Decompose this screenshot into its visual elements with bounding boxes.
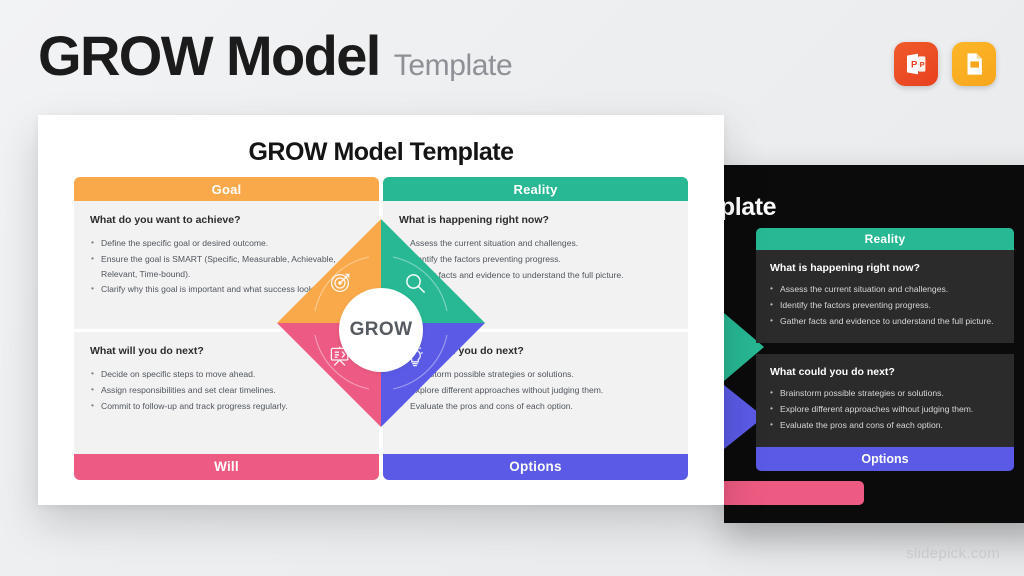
list-item: Assess the current situation and challen… xyxy=(770,283,1002,297)
dark-slide[interactable]: mplate Reality What is happening right n… xyxy=(724,165,1024,523)
dark-bar-reality[interactable]: Reality xyxy=(756,228,1014,250)
bar-will-label: Will xyxy=(214,459,239,474)
watermark: slidepick.com xyxy=(906,545,1000,562)
bar-goal[interactable]: Goal xyxy=(74,177,379,201)
list-item: Evaluate the pros and cons of each optio… xyxy=(770,419,1002,433)
bar-reality[interactable]: Reality xyxy=(383,177,688,201)
dark-panel-reality-bullets: Assess the current situation and challen… xyxy=(770,283,1002,329)
panel-reality-heading: What is happening right now? xyxy=(399,214,672,226)
list-item: Gather facts and evidence to understand … xyxy=(399,268,672,283)
grow-center-label: GROW xyxy=(350,319,413,341)
dark-panel-options-heading: What could you do next? xyxy=(770,366,1002,378)
panel-options-bullets: Brainstorm possible strategies or soluti… xyxy=(399,367,672,413)
dark-bar-options[interactable]: Options xyxy=(756,447,1014,471)
panel-will-heading: What will you do next? xyxy=(90,345,363,357)
dark-bar-options-label: Options xyxy=(861,452,908,466)
bar-reality-label: Reality xyxy=(513,182,557,197)
bar-options[interactable]: Options xyxy=(383,454,688,480)
svg-text:P: P xyxy=(911,59,918,70)
panel-goal-bullets: Define the specific goal or desired outc… xyxy=(90,236,363,297)
dark-panel-reality-heading: What is happening right now? xyxy=(770,262,1002,274)
list-item: Commit to follow-up and track progress r… xyxy=(90,399,363,414)
list-item: Clarify why this goal is important and w… xyxy=(90,282,363,297)
dark-panel-options: What could you do next? Brainstorm possi… xyxy=(756,354,1014,447)
panel-goal-heading: What do you want to achieve? xyxy=(90,214,363,226)
list-item: Explore different approaches without jud… xyxy=(770,403,1002,417)
panel-options-heading: What could you do next? xyxy=(399,345,672,357)
page-title-main: GROW Model xyxy=(38,28,380,84)
panel-will: What will you do next? Decide on specifi… xyxy=(74,332,379,454)
page-header: GROW Model Template P P xyxy=(0,0,1024,112)
list-item: Explore different approaches without jud… xyxy=(399,383,672,398)
list-item: Identify the factors preventing progress… xyxy=(399,252,672,267)
dark-will-bar xyxy=(724,481,864,505)
app-icon-group: P P xyxy=(894,42,996,86)
powerpoint-icon[interactable]: P P xyxy=(894,42,938,86)
list-item: Assess the current situation and challen… xyxy=(399,236,672,251)
panel-reality-bullets: Assess the current situation and challen… xyxy=(399,236,672,282)
panel-reality: What is happening right now? Assess the … xyxy=(383,201,688,329)
list-item: Assign responsibilities and set clear ti… xyxy=(90,383,363,398)
bar-will[interactable]: Will xyxy=(74,454,379,480)
dark-slide-column: Reality What is happening right now? Ass… xyxy=(756,228,1014,471)
page-title-sub: Template xyxy=(394,51,513,81)
list-item: Brainstorm possible strategies or soluti… xyxy=(770,387,1002,401)
page-title: GROW Model Template xyxy=(38,28,512,84)
grid-column-right: Reality What is happening right now? Ass… xyxy=(383,177,688,480)
grow-center-badge: GROW xyxy=(339,288,423,372)
list-item: Gather facts and evidence to understand … xyxy=(770,315,1002,329)
panel-options: What could you do next? Brainstorm possi… xyxy=(383,332,688,454)
svg-text:P: P xyxy=(920,60,925,69)
dark-bar-reality-label: Reality xyxy=(865,232,906,246)
bar-options-label: Options xyxy=(509,459,561,474)
bar-goal-label: Goal xyxy=(212,182,242,197)
list-item: Evaluate the pros and cons of each optio… xyxy=(399,399,672,414)
dark-panel-reality: What is happening right now? Assess the … xyxy=(756,250,1014,343)
grid-column-left: Goal What do you want to achieve? Define… xyxy=(74,177,379,480)
list-item: Decide on specific steps to move ahead. xyxy=(90,367,363,382)
google-slides-icon[interactable] xyxy=(952,42,996,86)
dark-divider xyxy=(756,343,1014,354)
panel-goal: What do you want to achieve? Define the … xyxy=(74,201,379,329)
slide-title: GROW Model Template xyxy=(38,138,724,167)
list-item: Brainstorm possible strategies or soluti… xyxy=(399,367,672,382)
panel-will-bullets: Decide on specific steps to move ahead. … xyxy=(90,367,363,413)
list-item: Define the specific goal or desired outc… xyxy=(90,236,363,251)
list-item: Ensure the goal is SMART (Specific, Meas… xyxy=(90,252,363,282)
dark-panel-options-bullets: Brainstorm possible strategies or soluti… xyxy=(770,387,1002,433)
list-item: Identify the factors preventing progress… xyxy=(770,299,1002,313)
dark-slide-title: mplate xyxy=(724,193,776,222)
